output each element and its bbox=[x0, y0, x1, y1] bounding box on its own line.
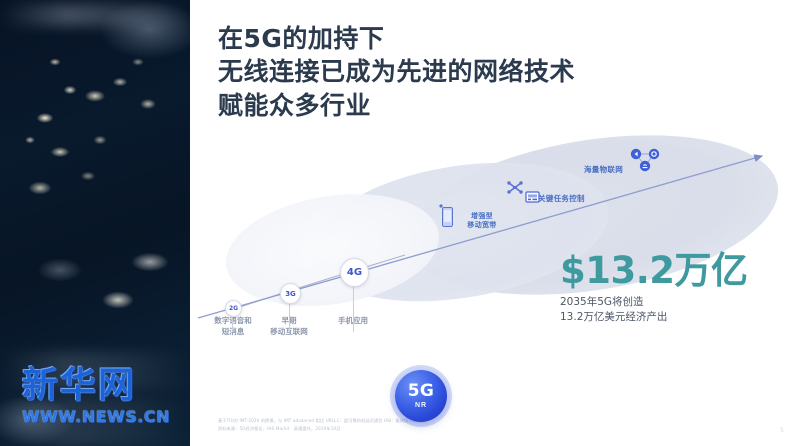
watermark-name: 新华网 bbox=[22, 368, 170, 404]
timeline-node-3g-label: 3G bbox=[285, 290, 296, 298]
timeline-tick-3g bbox=[289, 302, 290, 332]
cloud-band bbox=[0, 4, 190, 26]
timeline-node-3g[interactable]: 3G bbox=[280, 283, 301, 304]
headline-line-1: 在5G的加持下 bbox=[218, 22, 688, 55]
stat-subtext-line-2: 13.2万亿美元经济产出 bbox=[560, 310, 748, 325]
use-case-label-urllc: 关键任务控制 bbox=[538, 193, 585, 204]
5g-node-subtitle: NR bbox=[415, 402, 427, 409]
timeline-tick-4g bbox=[353, 285, 354, 332]
footnote-line-2: 资料来源：5G经济报告，IHS Markit · 高通委托，2019年10月 bbox=[218, 425, 638, 433]
timeline-caption-2g: 数字语音和 短消息 bbox=[200, 316, 266, 338]
iot-cluster-icon bbox=[628, 146, 662, 179]
headline-line-3: 赋能众多行业 bbox=[218, 89, 688, 122]
use-case-label-embb: 增强型 移动宽带 bbox=[462, 212, 502, 230]
smartphone-icon bbox=[439, 204, 455, 233]
stat-subtext: 2035年5G将创造 13.2万亿美元经济产出 bbox=[560, 295, 748, 325]
page-number: 5 bbox=[780, 427, 784, 434]
5g-node-title: 5G bbox=[408, 383, 435, 400]
timeline-node-2g-label: 2G bbox=[229, 305, 238, 312]
stat-value: $13.2万亿 bbox=[560, 252, 748, 289]
economic-output-stat: $13.2万亿 2035年5G将创造 13.2万亿美元经济产出 bbox=[560, 252, 748, 325]
use-case-label-mmtc: 海量物联网 bbox=[584, 164, 623, 175]
headline-line-2: 无线连接已成为先进的网络技术 bbox=[218, 55, 688, 88]
timeline-node-4g[interactable]: 4G bbox=[340, 258, 369, 287]
drone-icon bbox=[506, 180, 524, 200]
timeline-node-4g-label: 4G bbox=[347, 267, 362, 278]
slide-root: 新华网 WWW.NEWS.CN 在5G的加持下 无线连接已成为先进的网络技术 赋… bbox=[0, 0, 800, 446]
stat-subtext-line-1: 2035年5G将创造 bbox=[560, 295, 748, 310]
5g-nr-node[interactable]: 5G NR bbox=[395, 370, 447, 422]
page-title: 在5G的加持下 无线连接已成为先进的网络技术 赋能众多行业 bbox=[218, 22, 688, 122]
watermark-url: WWW.NEWS.CN bbox=[22, 407, 170, 426]
timeline-tick-2g bbox=[232, 315, 233, 332]
timeline-node-2g[interactable]: 2G bbox=[225, 300, 242, 317]
xinhua-watermark: 新华网 WWW.NEWS.CN bbox=[22, 368, 170, 426]
